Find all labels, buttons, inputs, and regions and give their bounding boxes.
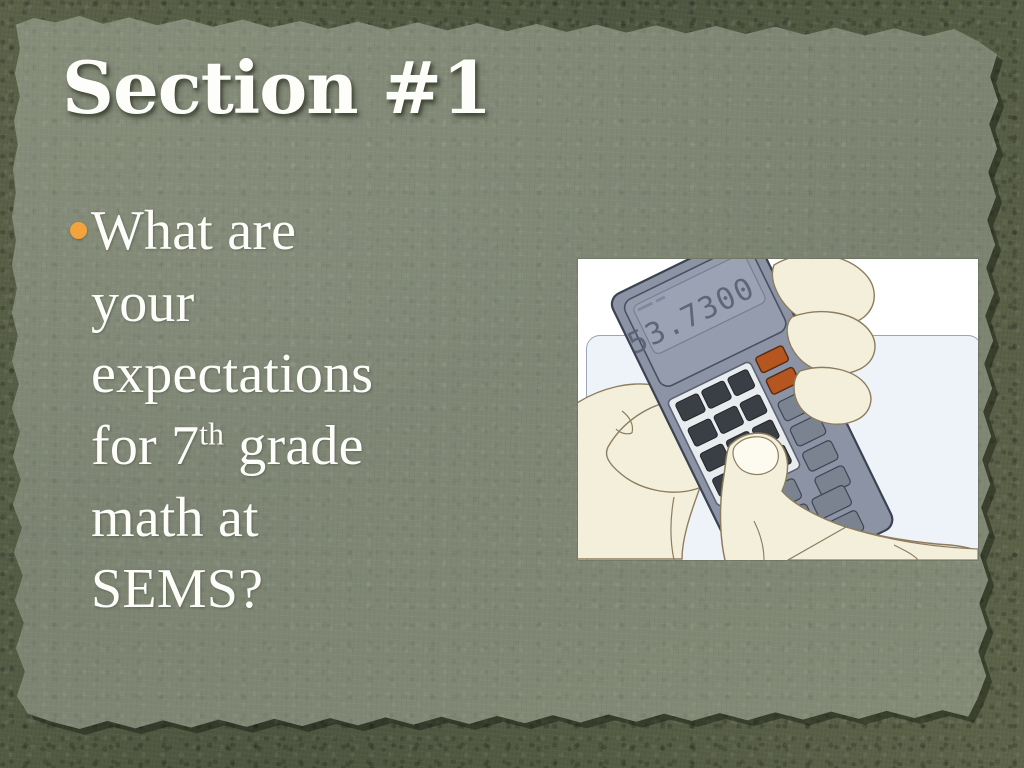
bullet-line-4-before: for 7 <box>91 415 199 477</box>
bullet-line-6: SEMS? <box>91 558 263 620</box>
calculator-illustration: 53.7300 <box>578 259 978 560</box>
bullet-dot-icon <box>70 222 87 239</box>
bullet-list: What are your expectations for 7th grade… <box>70 196 500 626</box>
bullet-item-text: What are your expectations for 7th grade… <box>91 196 373 626</box>
bullet-line-2: your <box>91 272 194 334</box>
title-main-text: Section <box>62 45 358 130</box>
title-suffix-text: #1 <box>382 45 492 130</box>
bullet-line-3: expectations <box>91 343 373 405</box>
list-item: What are your expectations for 7th grade… <box>70 196 500 626</box>
fingernail <box>733 437 778 475</box>
bullet-line-4-after: grade <box>224 415 364 477</box>
bullet-line-5: math at <box>91 487 259 549</box>
page-title: Section #1 <box>62 52 492 124</box>
bullet-line-1: What are <box>91 200 296 262</box>
slide-canvas: Section #1 What are your expectations fo… <box>0 0 1024 768</box>
calculator-clipart-image: 53.7300 <box>578 259 978 560</box>
ordinal-suffix: th <box>199 416 224 451</box>
